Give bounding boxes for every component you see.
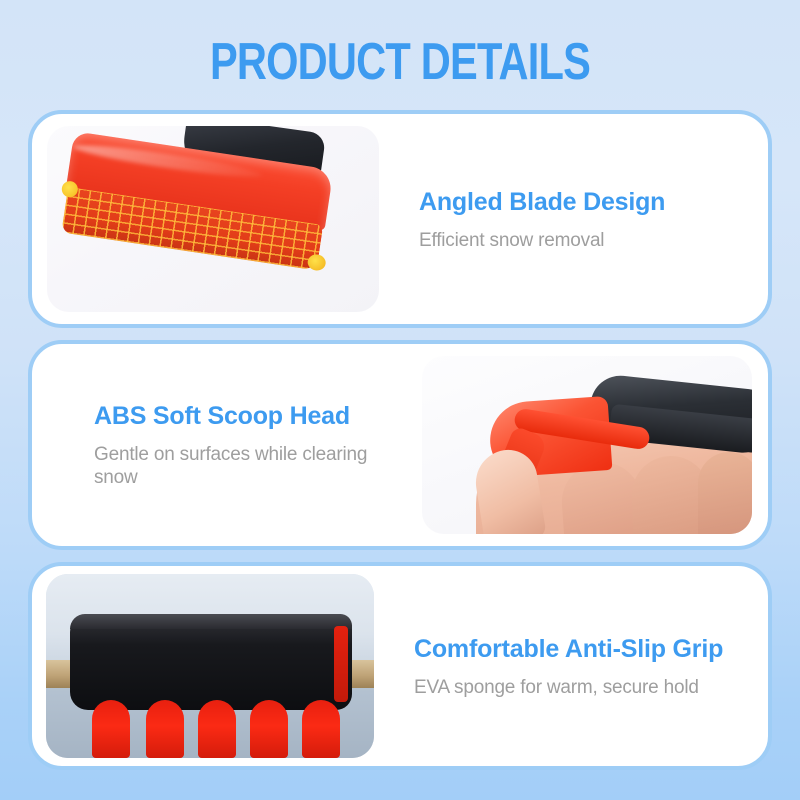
feature-subtext: EVA sponge for warm, secure hold: [414, 676, 752, 699]
feature-card-anti-slip-grip: Comfortable Anti-Slip Grip EVA sponge fo…: [28, 562, 772, 770]
feature-heading: ABS Soft Scoop Head: [94, 401, 410, 432]
feature-card-text-block: Angled Blade Design Efficient snow remov…: [379, 187, 768, 252]
feature-subtext: Efficient snow removal: [419, 229, 750, 252]
grip-red-groove-4: [250, 700, 288, 758]
feature-card-text-block: ABS Soft Scoop Head Gentle on surfaces w…: [32, 401, 422, 489]
grip-red-groove-3: [198, 700, 236, 758]
angled-red-squeegee-blade-photo: [47, 126, 379, 312]
grip-red-end-cap: [334, 626, 348, 702]
feature-subtext: Gentle on surfaces while clearing snow: [94, 443, 410, 489]
hand-finger-3: [698, 452, 752, 534]
feature-card-text-block: Comfortable Anti-Slip Grip EVA sponge fo…: [374, 634, 768, 699]
grip-red-groove-1: [92, 700, 130, 758]
feature-card-angled-blade: Angled Blade Design Efficient snow remov…: [28, 110, 772, 328]
grip-red-groove-5: [302, 700, 340, 758]
feature-heading: Comfortable Anti-Slip Grip: [414, 634, 752, 665]
grip-red-groove-2: [146, 700, 184, 758]
blade-yellow-tip-right: [307, 253, 327, 271]
grip-black-foam-top-face: [70, 614, 352, 629]
feature-heading: Angled Blade Design: [419, 187, 750, 218]
hand-flexing-red-scoop-head-photo: [422, 356, 752, 534]
page-title: PRODUCT DETAILS: [80, 34, 720, 90]
feature-card-abs-soft-scoop-head: ABS Soft Scoop Head Gentle on surfaces w…: [28, 340, 772, 550]
product-details-page: PRODUCT DETAILS Angled Blade Design Effi…: [0, 0, 800, 800]
black-red-eva-foam-grip-photo: [46, 574, 374, 758]
